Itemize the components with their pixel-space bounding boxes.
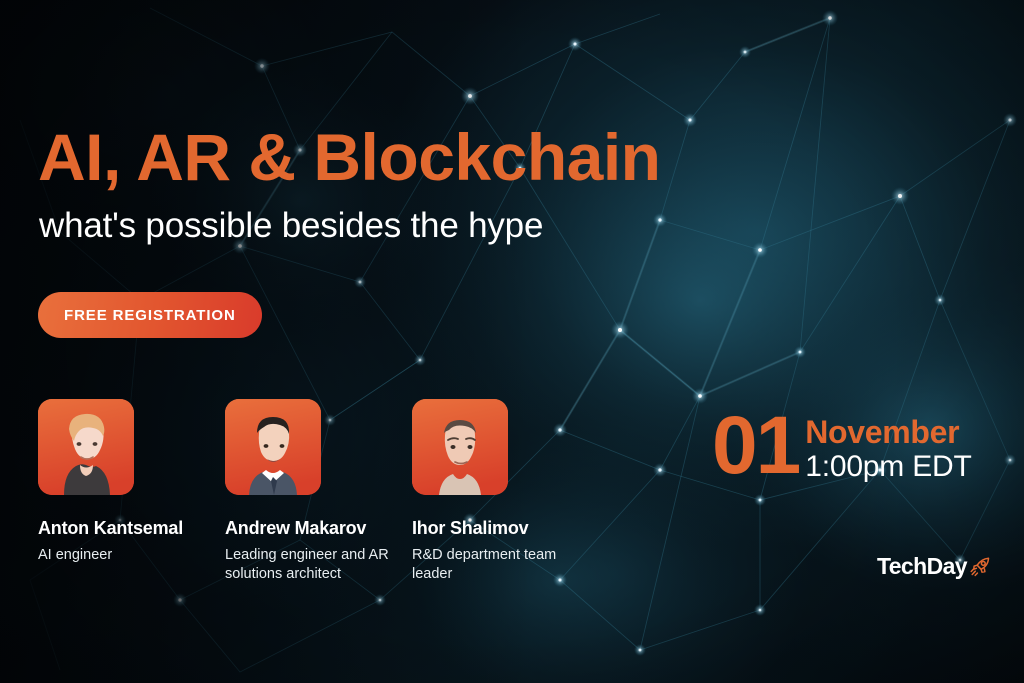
speaker-role: R&D department team leader [412, 546, 584, 585]
avatar [412, 399, 508, 495]
event-day: 01 [712, 410, 799, 482]
page-title: AI, AR & Blockchain [38, 124, 661, 190]
event-month: November [805, 416, 971, 450]
speakers-list: Anton Kantsemal AI engineer [38, 399, 599, 585]
speaker-name: Andrew Makarov [225, 519, 412, 539]
avatar [225, 399, 321, 495]
speaker-photo-anton-icon [38, 399, 134, 495]
event-date-block: 01 November 1:00pm EDT [712, 410, 972, 483]
rocket-icon [968, 554, 994, 580]
speaker-photo-andrew-icon [225, 399, 321, 495]
page-subtitle: what's possible besides the hype [39, 208, 543, 243]
event-banner: AI, AR & Blockchain what's possible besi… [0, 0, 1024, 683]
logo-text: TechDay [877, 555, 967, 578]
speaker-photo-ihor-icon [412, 399, 508, 495]
avatar [38, 399, 134, 495]
free-registration-button[interactable]: FREE REGISTRATION [38, 292, 262, 338]
speaker-role: AI engineer [38, 546, 210, 566]
list-item: Ihor Shalimov R&D department team leader [412, 399, 599, 585]
techday-logo: TechDay [877, 552, 994, 580]
event-month-time: November 1:00pm EDT [805, 410, 971, 483]
list-item: Anton Kantsemal AI engineer [38, 399, 225, 585]
speaker-name: Anton Kantsemal [38, 519, 225, 539]
list-item: Andrew Makarov Leading engineer and AR s… [225, 399, 412, 585]
speaker-name: Ihor Shalimov [412, 519, 599, 539]
event-time: 1:00pm EDT [805, 450, 971, 483]
speaker-role: Leading engineer and AR solutions archit… [225, 546, 397, 585]
